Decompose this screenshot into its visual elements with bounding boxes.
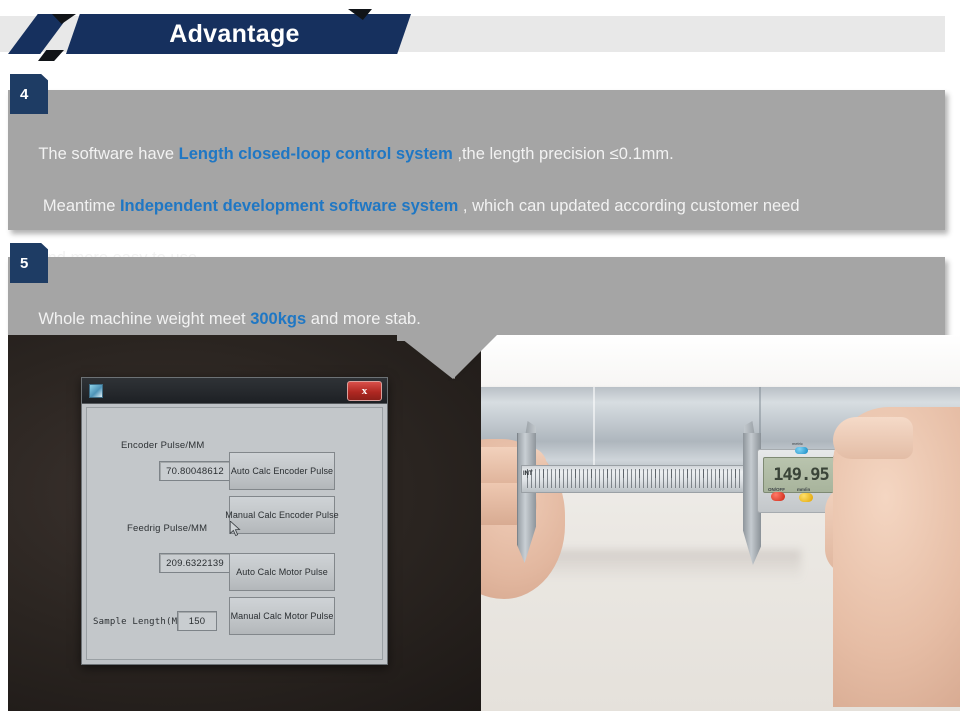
badge-number-4: 4 [10,74,48,114]
text-run: Whole machine weight meet [38,310,250,328]
text-run: ,the length precision ≤0.1mm. [453,145,674,163]
caliper-reading-value: 149.95 [773,465,828,485]
badge-label: 4 [20,86,28,103]
dialog-title-bar[interactable]: x [82,378,387,404]
encoder-pulse-label: Encoder Pulse/MM [121,440,204,451]
caliper-unit-button[interactable] [799,493,813,502]
callout-tail-top [397,335,451,341]
ribbon-title-plate: Advantage [66,14,411,54]
header-ribbon: Advantage [8,10,418,58]
right-finger-upper [833,417,913,459]
app-icon [89,384,103,398]
close-icon[interactable]: x [347,381,382,401]
highlight-length-closed-loop: Length closed-loop control system [179,145,453,163]
caliper-onoff-button[interactable] [771,492,785,501]
text-run: and more stab. [306,310,421,328]
mouse-cursor-icon [230,521,241,537]
caliper-brand-label: INT [523,471,533,477]
sample-length-input[interactable]: 150 [177,611,217,631]
feeding-pulse-label: Feedrig Pulse/MM [127,523,207,534]
badge-label: 5 [20,255,28,272]
slide-root: Advantage 4 The software have Length clo… [0,0,960,720]
auto-calc-motor-pulse-button[interactable]: Auto Calc Motor Pulse [229,553,335,591]
photo-caliper-measurement: INT 149.95 metric ON/OFF mm/in [481,335,960,711]
caliper-metric-button[interactable] [795,447,808,454]
caliper-unit-label: mm/in [797,487,810,492]
page-title: Advantage [169,20,300,49]
photo-software-screen: x Encoder Pulse/MM 70.80048612 Feedrig P… [8,335,481,711]
badge-number-5: 5 [10,243,48,283]
text-run: The software have [38,145,178,163]
photo-wall [481,335,960,391]
text-run: Meantime [38,197,120,215]
manual-calc-encoder-pulse-button[interactable]: Manual Calc Encoder Pulse [229,496,335,534]
software-dialog-window: x Encoder Pulse/MM 70.80048612 Feedrig P… [81,377,388,665]
highlight-300kgs: 300kgs [250,310,306,328]
sample-length-label: Sample Length(MM) [93,617,189,627]
text-run: , which can updated according customer n… [458,197,799,215]
encoder-pulse-input[interactable]: 70.80048612 [159,461,231,481]
left-gutter [0,335,8,720]
caliper-scale-major-ticks [527,469,765,478]
auto-calc-encoder-pulse-button[interactable]: Auto Calc Encoder Pulse [229,452,335,490]
feeding-pulse-input[interactable]: 209.6322139 [159,553,231,573]
manual-calc-motor-pulse-button[interactable]: Manual Calc Motor Pulse [229,597,335,635]
highlight-independent-development: Independent development software system [120,197,458,215]
bottom-strip [0,711,960,720]
photo-strip: x Encoder Pulse/MM 70.80048612 Feedrig P… [8,335,960,711]
caliper-metric-label: metric [792,441,803,446]
dialog-body: Encoder Pulse/MM 70.80048612 Feedrig Pul… [86,407,383,660]
